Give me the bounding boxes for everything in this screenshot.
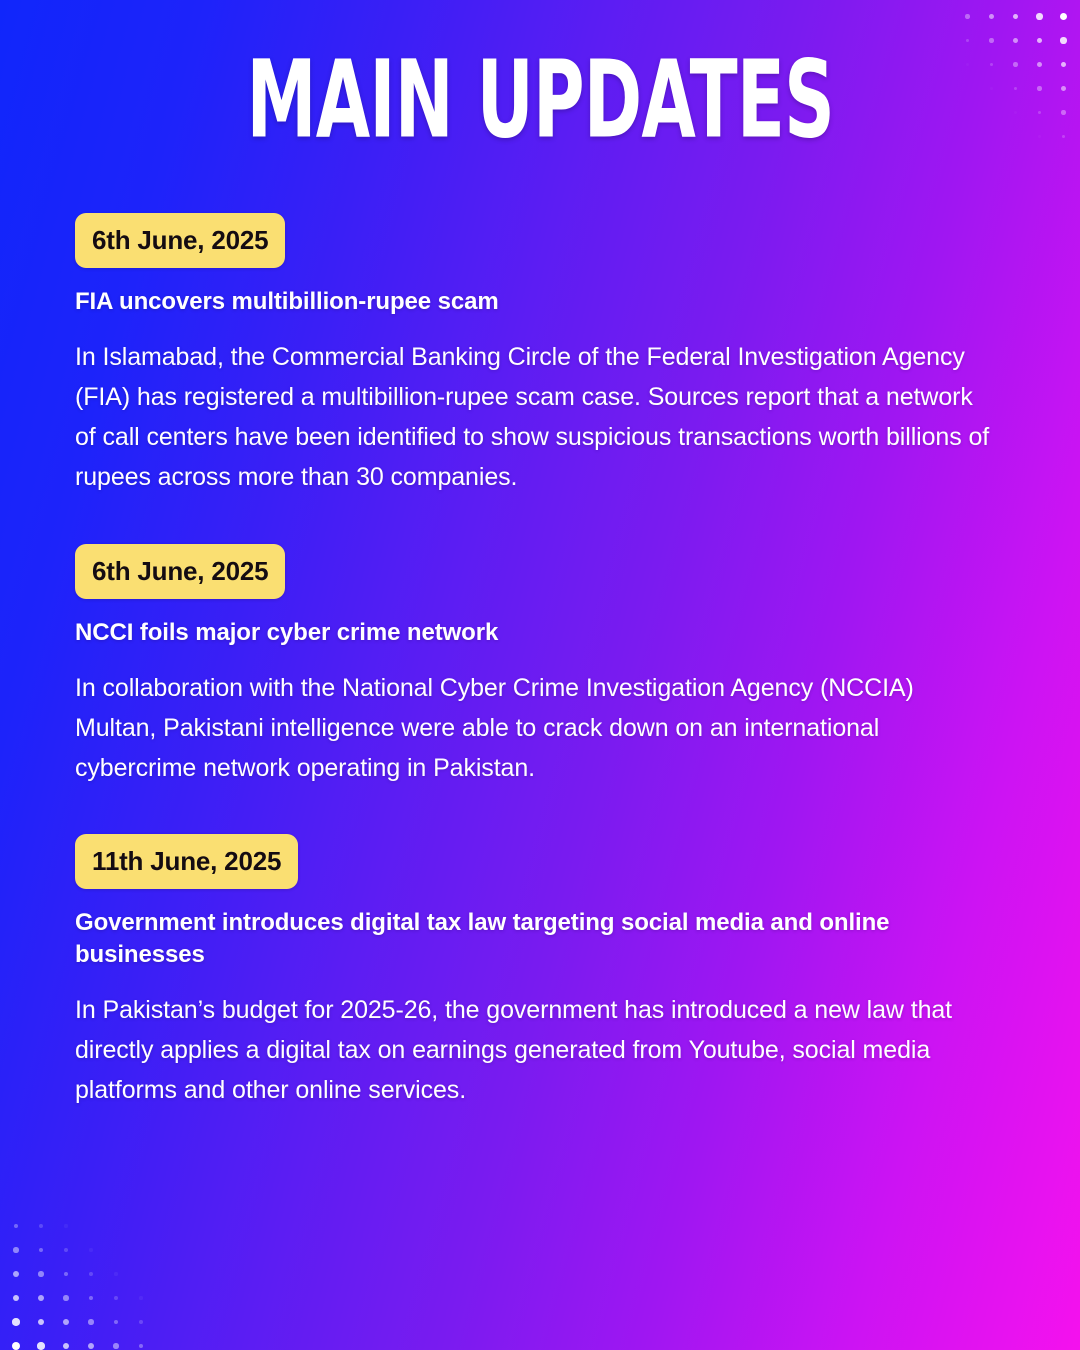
update-item-1: 6th June, 2025 FIA uncovers multibillion… xyxy=(75,213,1005,497)
status-badge-date-1: 6th June, 2025 xyxy=(75,213,285,268)
update-headline-2: NCCI foils major cyber crime network xyxy=(75,617,980,649)
updates-list: 6th June, 2025 FIA uncovers multibillion… xyxy=(75,213,1005,1110)
update-item-3: 11th June, 2025 Government introduces di… xyxy=(75,834,1005,1110)
update-headline-3: Government introduces digital tax law ta… xyxy=(75,907,980,971)
update-headline-1: FIA uncovers multibillion-rupee scam xyxy=(75,286,980,318)
section-spacer-2 xyxy=(75,788,1005,834)
update-item-2: 6th June, 2025 NCCI foils major cyber cr… xyxy=(75,544,1005,788)
page-title: MAIN UPDATES xyxy=(246,46,834,153)
section-spacer-1 xyxy=(75,497,1005,544)
status-badge-date-3: 11th June, 2025 xyxy=(75,834,298,889)
bottom-left-dot-grid-icon xyxy=(0,1210,160,1350)
poster-canvas: MAIN UPDATES 6th June, 2025 FIA uncovers… xyxy=(0,0,1080,1350)
update-body-3: In Pakistan’s budget for 2025-26, the go… xyxy=(75,990,1000,1110)
status-badge-date-2: 6th June, 2025 xyxy=(75,544,285,599)
page-title-container: MAIN UPDATES xyxy=(0,46,1080,134)
update-body-1: In Islamabad, the Commercial Banking Cir… xyxy=(75,337,1000,497)
update-body-2: In collaboration with the National Cyber… xyxy=(75,668,1000,788)
